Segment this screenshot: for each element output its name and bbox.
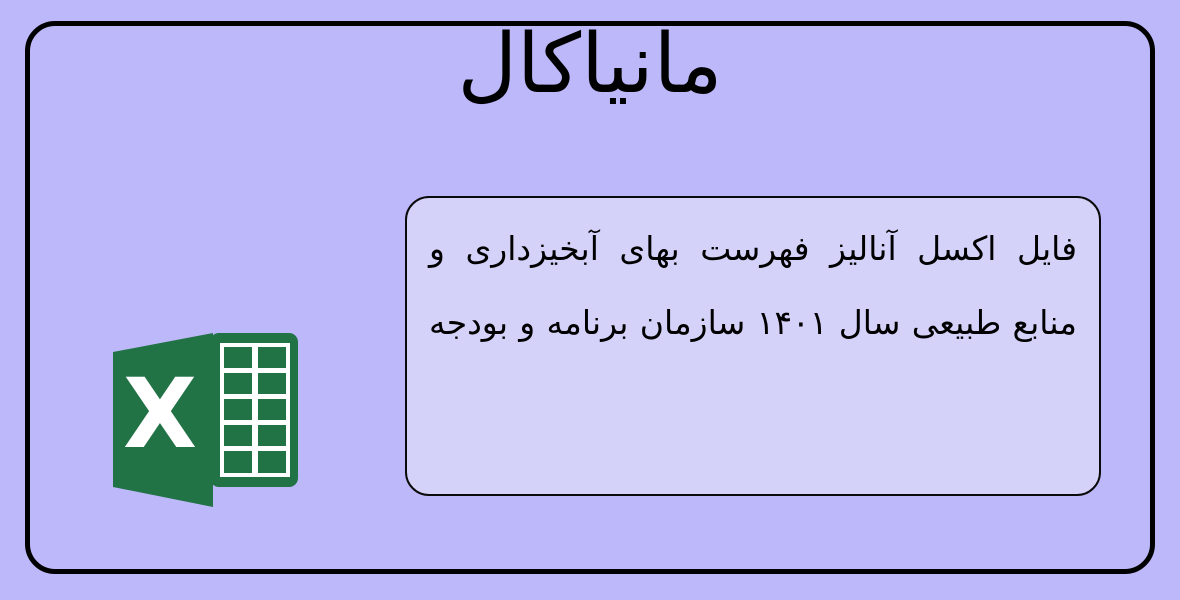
excel-icon-left-panel: X: [113, 333, 213, 507]
description-text: فایل اکسل آنالیز فهرست بهای آبخیزداری و …: [429, 212, 1077, 360]
excel-icon-grid-panel: [210, 333, 298, 487]
excel-icon-letter: X: [123, 358, 197, 470]
page-root: مانیاکال X: [0, 0, 1180, 600]
excel-icon-graphic: X: [104, 325, 300, 517]
description-box: فایل اکسل آنالیز فهرست بهای آبخیزداری و …: [405, 196, 1101, 496]
page-title: مانیاکال: [0, 14, 1180, 117]
excel-file-icon: X: [104, 325, 300, 517]
